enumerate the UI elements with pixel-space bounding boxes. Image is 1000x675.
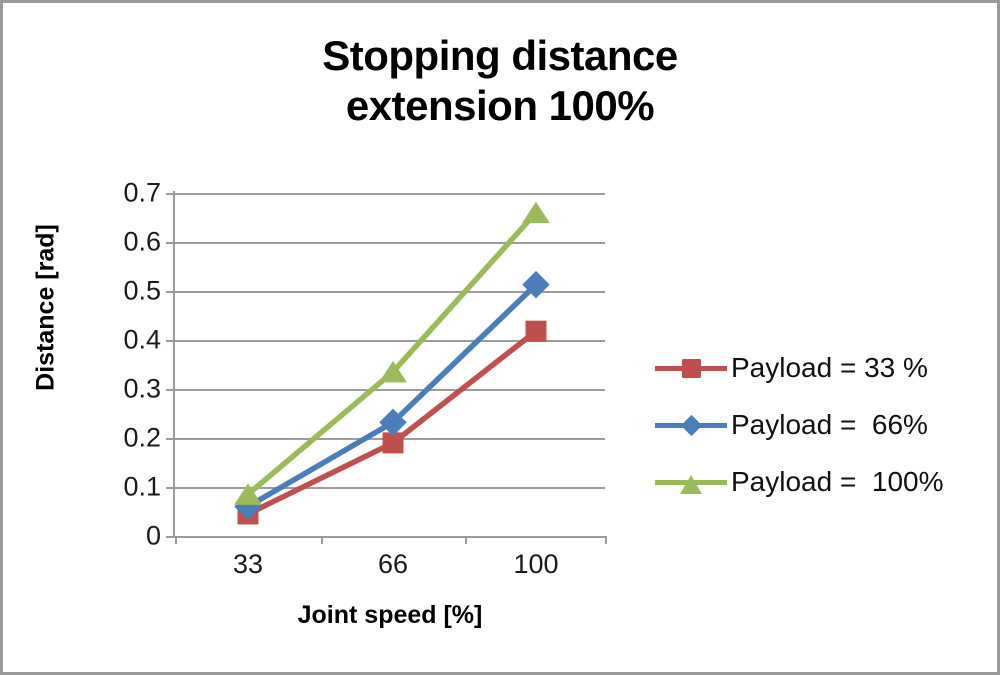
data-point-marker bbox=[380, 362, 406, 382]
y-axis-tick-label: 0.2 bbox=[91, 423, 161, 454]
series-polyline bbox=[248, 213, 536, 495]
y-axis-tick-label: 0.5 bbox=[91, 276, 161, 307]
y-axis-tick-label: 0.3 bbox=[91, 374, 161, 405]
chart-image: Stopping distance extension 100% 00.10.2… bbox=[0, 0, 1000, 675]
x-axis-tick bbox=[175, 536, 177, 544]
legend-item[interactable]: Payload = 100% bbox=[655, 453, 995, 510]
legend-marker-square-icon bbox=[682, 359, 701, 378]
gridline bbox=[175, 536, 605, 538]
x-axis-tick-label: 100 bbox=[476, 549, 596, 580]
data-point-marker bbox=[380, 409, 406, 435]
legend-label: Payload = 100% bbox=[727, 466, 944, 498]
y-axis-tick bbox=[166, 340, 174, 342]
legend-swatch bbox=[655, 355, 727, 381]
y-axis-tick-label: 0.1 bbox=[91, 472, 161, 503]
y-axis-tick-label: 0.7 bbox=[91, 178, 161, 209]
chart-legend: Payload = 33 %Payload = 66%Payload = 100… bbox=[655, 339, 995, 510]
chart-title-line-1: Stopping distance bbox=[322, 32, 678, 79]
legend-label: Payload = 33 % bbox=[727, 352, 928, 384]
y-axis-tick bbox=[166, 242, 174, 244]
legend-label: Payload = 66% bbox=[727, 409, 928, 441]
series-line bbox=[238, 321, 546, 524]
y-axis-tick bbox=[166, 193, 174, 195]
legend-item[interactable]: Payload = 66% bbox=[655, 396, 995, 453]
data-point-marker bbox=[238, 504, 258, 524]
data-point-marker bbox=[523, 272, 549, 298]
gridline bbox=[175, 389, 605, 391]
data-point-marker bbox=[526, 321, 546, 341]
series-line bbox=[235, 272, 549, 520]
y-axis-tick bbox=[166, 536, 174, 538]
legend-swatch bbox=[655, 412, 727, 438]
legend-marker-diamond-icon bbox=[681, 414, 702, 435]
data-point-marker bbox=[523, 203, 549, 223]
y-axis-tick bbox=[166, 389, 174, 391]
gridline bbox=[175, 340, 605, 342]
gridline bbox=[175, 193, 605, 195]
gridline bbox=[175, 291, 605, 293]
legend-swatch bbox=[655, 469, 727, 495]
y-axis-tick-labels: 00.10.20.30.40.50.60.7 bbox=[81, 3, 161, 675]
data-point-marker bbox=[235, 494, 261, 520]
data-point-marker bbox=[383, 433, 403, 453]
gridline bbox=[175, 438, 605, 440]
y-axis-tick-label: 0.4 bbox=[91, 325, 161, 356]
x-axis-tick bbox=[605, 536, 607, 544]
x-axis-tick bbox=[465, 536, 467, 544]
legend-item[interactable]: Payload = 33 % bbox=[655, 339, 995, 396]
y-axis-title: Distance [rad] bbox=[32, 198, 61, 418]
y-axis-tick-label: 0 bbox=[91, 521, 161, 552]
y-axis-tick bbox=[166, 487, 174, 489]
gridline bbox=[175, 487, 605, 489]
legend-marker-triangle-icon bbox=[680, 475, 702, 494]
y-axis-tick bbox=[166, 438, 174, 440]
x-axis-tick-label: 66 bbox=[333, 549, 453, 580]
x-axis-title: Joint speed [%] bbox=[175, 601, 605, 630]
x-axis-tick-label: 33 bbox=[188, 549, 308, 580]
y-axis-tick bbox=[166, 291, 174, 293]
gridline bbox=[175, 242, 605, 244]
series-line bbox=[235, 203, 549, 505]
series-polyline bbox=[248, 285, 536, 507]
y-axis-tick-label: 0.6 bbox=[91, 227, 161, 258]
x-axis-tick bbox=[321, 536, 323, 544]
